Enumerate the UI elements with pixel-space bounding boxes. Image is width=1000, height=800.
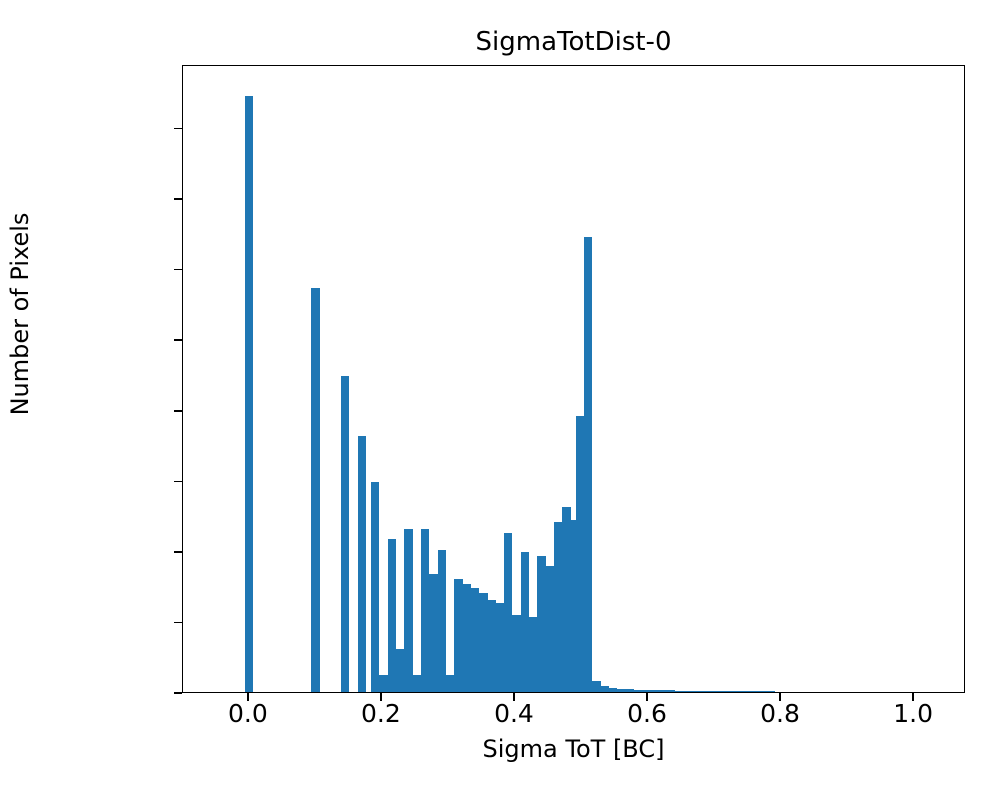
histogram-bar — [379, 675, 387, 692]
plot-area — [182, 65, 965, 693]
histogram-bar — [684, 691, 692, 692]
chart-title: SigmaTotDist-0 — [182, 26, 965, 58]
histogram-bar — [692, 691, 700, 692]
histogram-bars — [183, 66, 964, 692]
histogram-bar — [659, 690, 667, 692]
histogram-bar — [496, 603, 504, 692]
histogram-bar — [396, 649, 404, 692]
histogram-bar — [725, 691, 733, 692]
histogram-bar — [371, 482, 379, 692]
histogram-bar — [504, 533, 512, 692]
histogram-bar — [413, 675, 421, 692]
histogram-bar — [358, 436, 366, 692]
histogram-bar — [446, 675, 454, 692]
histogram-bar — [592, 681, 600, 692]
y-tick-mark — [174, 481, 182, 483]
x-tick-label: 0.2 — [341, 700, 421, 728]
histogram-bar — [512, 615, 520, 692]
y-tick-mark — [174, 551, 182, 553]
x-tick-label: 0.4 — [474, 700, 554, 728]
histogram-bar — [617, 689, 625, 692]
histogram-bar — [767, 691, 775, 692]
histogram-bar — [479, 593, 487, 692]
y-tick-mark — [174, 128, 182, 130]
histogram-bar — [576, 416, 584, 692]
x-tick-label: 0.6 — [607, 700, 687, 728]
x-axis-label: Sigma ToT [BC] — [182, 735, 965, 763]
histogram-bar — [675, 691, 683, 692]
y-tick-mark — [174, 410, 182, 412]
histogram-bar — [584, 237, 592, 692]
x-tick-label: 0.8 — [740, 700, 820, 728]
histogram-bar — [388, 539, 396, 692]
histogram-bar — [471, 588, 479, 692]
histogram-bar — [700, 691, 708, 692]
histogram-bar — [642, 690, 650, 692]
histogram-bar — [609, 688, 617, 692]
histogram-bar — [717, 691, 725, 692]
y-axis-label: Number of Pixels — [6, 144, 34, 484]
y-tick-mark — [174, 198, 182, 200]
histogram-bar — [529, 617, 537, 692]
histogram-bar — [562, 507, 570, 692]
histogram-bar — [421, 529, 429, 692]
x-tick-label: 0.0 — [208, 700, 288, 728]
histogram-bar — [651, 690, 659, 692]
histogram-bar — [311, 288, 319, 692]
histogram-bar — [709, 691, 717, 692]
histogram-bar — [429, 574, 437, 692]
histogram-bar — [546, 566, 554, 692]
histogram-bar — [734, 691, 742, 692]
histogram-bar — [404, 529, 412, 692]
y-tick-mark — [174, 339, 182, 341]
histogram-bar — [463, 584, 471, 692]
histogram-bar — [750, 691, 758, 692]
histogram-bar — [537, 556, 545, 692]
histogram-bar — [626, 689, 634, 692]
histogram-bar — [601, 686, 609, 692]
histogram-bar — [488, 600, 496, 692]
y-tick-mark — [174, 269, 182, 271]
histogram-bar — [341, 376, 349, 692]
histogram-bar — [554, 522, 562, 692]
histogram-bar — [667, 690, 675, 692]
y-tick-mark — [174, 692, 182, 694]
histogram-bar — [521, 552, 529, 692]
histogram-bar — [742, 691, 750, 692]
y-tick-mark — [174, 622, 182, 624]
histogram-bar — [759, 691, 767, 692]
x-tick-label: 1.0 — [873, 700, 953, 728]
matplotlib-figure: SigmaTotDist-0 Number of Pixels Sigma To… — [0, 0, 1000, 800]
histogram-bar — [634, 690, 642, 692]
histogram-bar — [438, 550, 446, 692]
histogram-bar — [245, 96, 253, 692]
histogram-bar — [454, 579, 462, 692]
